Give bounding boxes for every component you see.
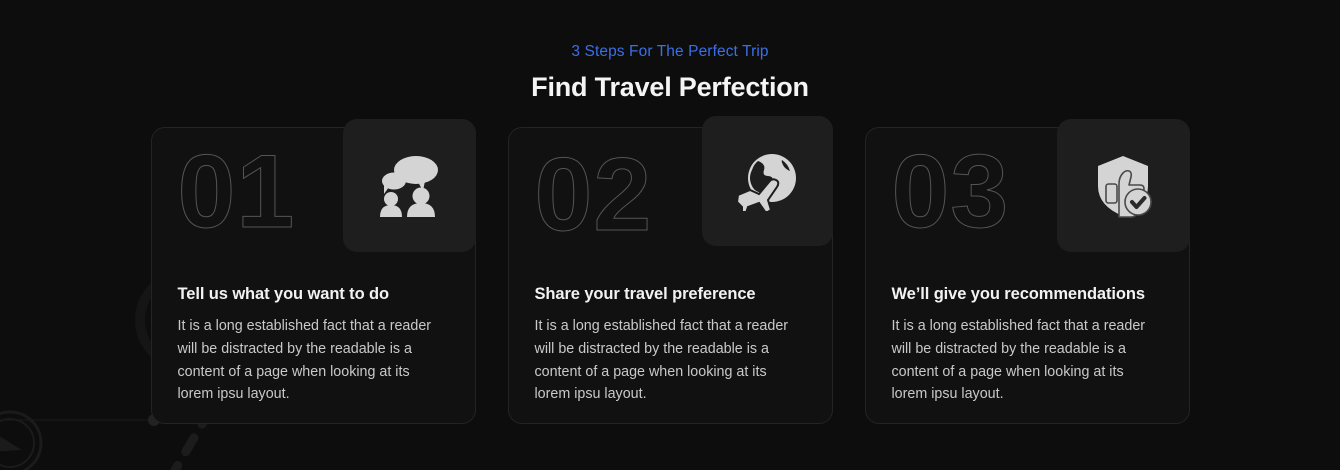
step-number: 02 xyxy=(535,143,653,247)
step-card-text: It is a long established fact that a rea… xyxy=(535,315,806,405)
step-card-body: Tell us what you want to do It is a long… xyxy=(152,283,475,405)
step-card-title: Share your travel preference xyxy=(535,283,806,305)
step-card-body: We’ll give you recommendations It is a l… xyxy=(866,283,1189,405)
step-card[interactable]: 02 Share your travel preference It is a … xyxy=(508,127,833,424)
page-title: Find Travel Perfection xyxy=(0,69,1340,105)
section-eyebrow: 3 Steps For The Perfect Trip xyxy=(0,42,1340,62)
step-icon-box xyxy=(343,119,476,252)
step-card-title: We’ll give you recommendations xyxy=(892,283,1163,305)
step-card-text: It is a long established fact that a rea… xyxy=(892,315,1163,405)
step-number: 03 xyxy=(892,140,1010,244)
step-card-media: 03 xyxy=(866,128,1189,283)
step-card-body: Share your travel preference It is a lon… xyxy=(509,283,832,405)
step-icon-box xyxy=(1057,119,1190,252)
step-card-media: 01 xyxy=(152,128,475,283)
step-number: 01 xyxy=(178,140,296,244)
step-card[interactable]: 01 Tell us what you want to do It is a l… xyxy=(151,127,476,424)
step-icon-box xyxy=(702,116,833,246)
step-card-text: It is a long established fact that a rea… xyxy=(178,315,449,405)
steps-card-list: 01 Tell us what you want to do It is a l… xyxy=(0,127,1340,424)
globe-airplane-icon xyxy=(736,151,798,211)
step-card-title: Tell us what you want to do xyxy=(178,283,449,305)
chat-bubbles-people-icon xyxy=(376,155,442,217)
step-card[interactable]: 03 We’ll give you recommendations It is … xyxy=(865,127,1190,424)
step-card-media: 02 xyxy=(509,128,832,283)
shield-thumbs-up-check-icon xyxy=(1092,154,1154,218)
section-header: 3 Steps For The Perfect Trip Find Travel… xyxy=(0,0,1340,105)
